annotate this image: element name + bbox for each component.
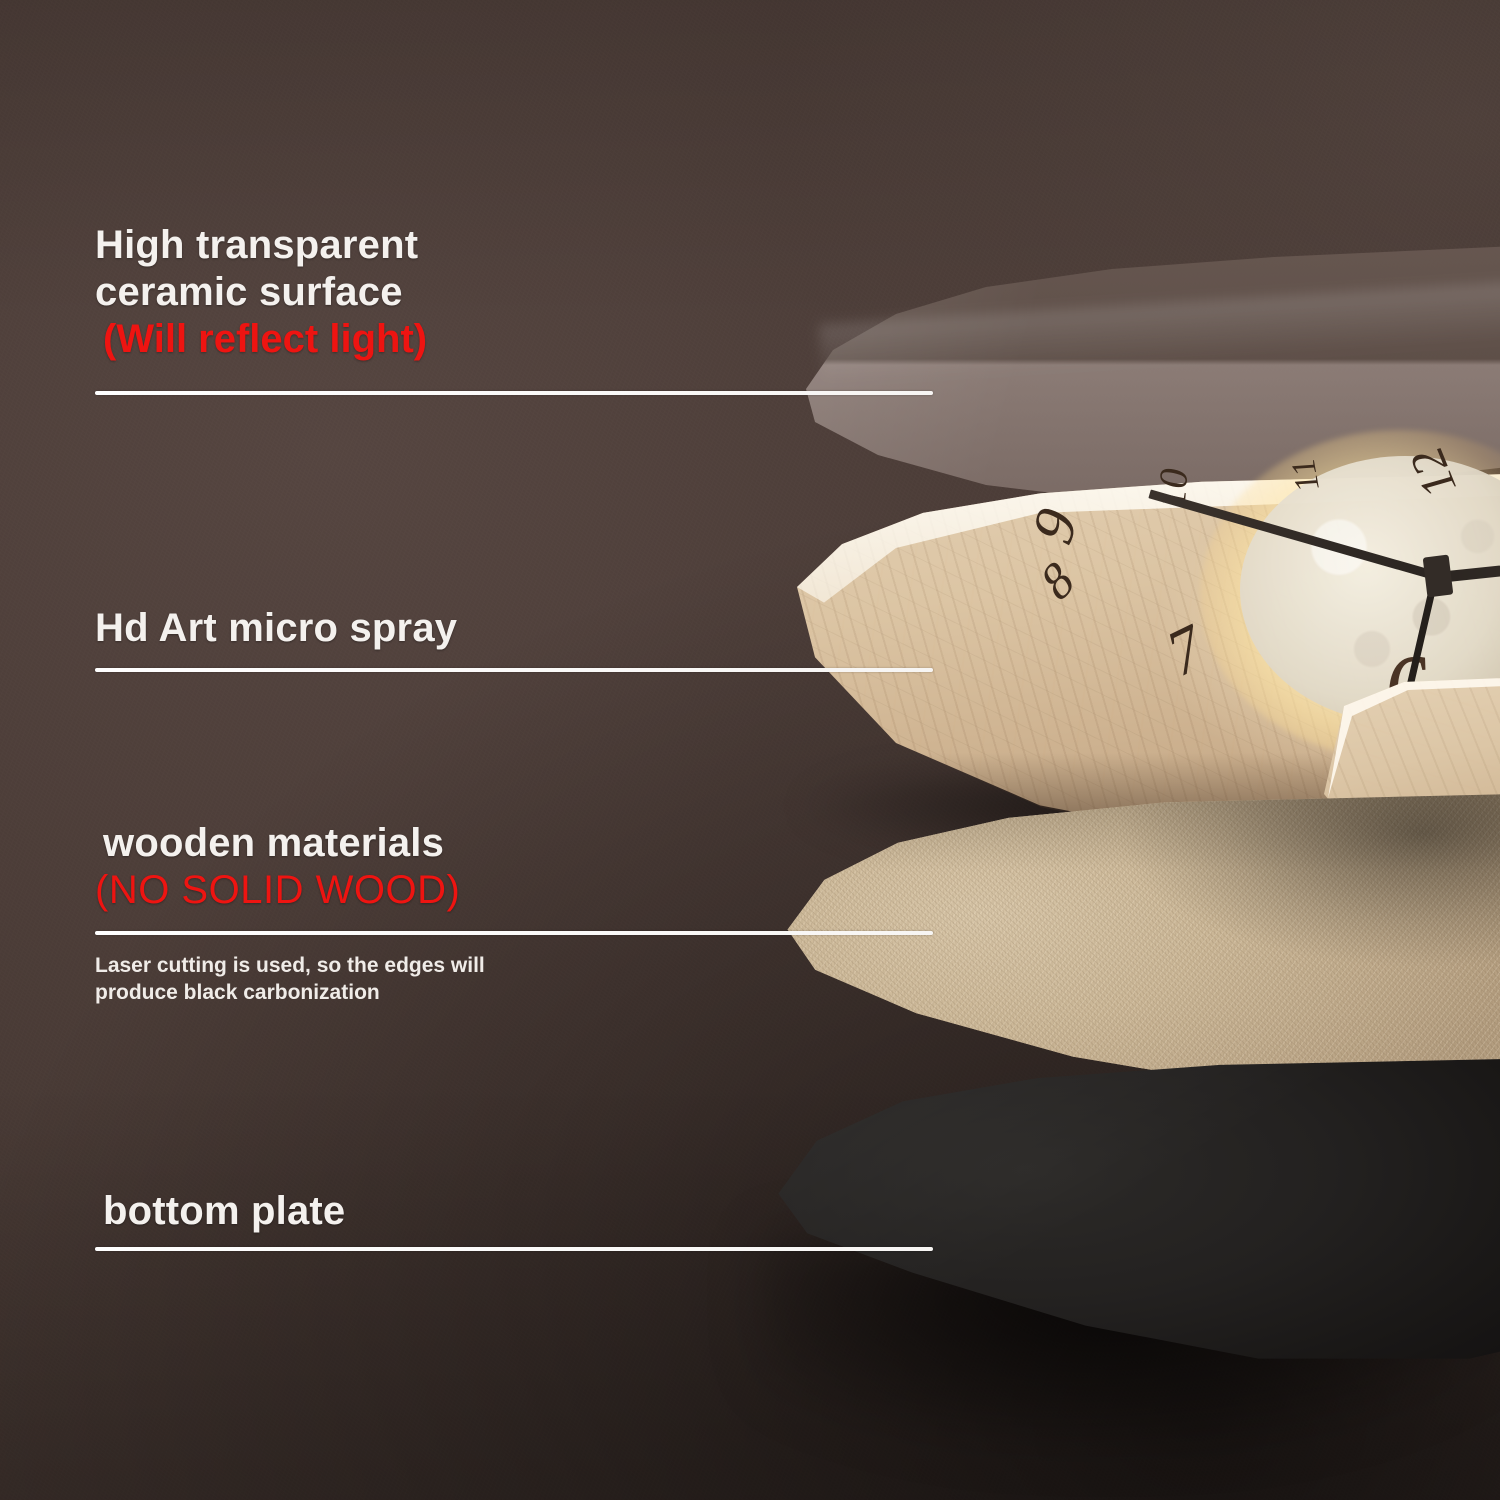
callout-laser-cutting-note: Laser cutting is used, so the edges will… xyxy=(95,953,485,1007)
callout-wooden-materials: wooden materials (NO SOLID WOOD) xyxy=(95,820,460,914)
callout-wooden-materials-note: (NO SOLID WOOD) xyxy=(95,867,460,914)
wooden-board-shading xyxy=(760,790,1500,1100)
callout-laser-cutting-text: Laser cutting is used, so the edges will… xyxy=(95,953,485,1007)
callout-micro-spray: Hd Art micro spray xyxy=(95,605,457,652)
callout-micro-spray-title: Hd Art micro spray xyxy=(95,605,457,652)
leader-line-bottom-plate xyxy=(95,1247,933,1251)
leader-line-wooden-materials xyxy=(95,931,933,935)
clock-hand-hub xyxy=(1423,555,1454,598)
clock-numeral-11: 11 xyxy=(1286,458,1326,493)
callout-ceramic-surface-note: (Will reflect light) xyxy=(103,316,427,363)
callout-bottom-plate-title: bottom plate xyxy=(103,1188,345,1235)
callout-wooden-materials-title: wooden materials xyxy=(103,820,460,867)
layer-wooden-board xyxy=(760,790,1500,1100)
infographic-canvas: 12 11 10 9 8 7 6 xyxy=(0,0,1500,1500)
callout-ceramic-surface-title: High transparent ceramic surface xyxy=(95,222,427,316)
callout-bottom-plate: bottom plate xyxy=(95,1188,345,1235)
leader-line-ceramic-surface xyxy=(95,391,933,395)
callout-ceramic-surface: High transparent ceramic surface (Will r… xyxy=(95,222,427,364)
leader-line-micro-spray xyxy=(95,668,933,672)
bottom-plate-sheen xyxy=(740,1055,1500,1385)
layer-bottom-plate xyxy=(740,1055,1500,1385)
